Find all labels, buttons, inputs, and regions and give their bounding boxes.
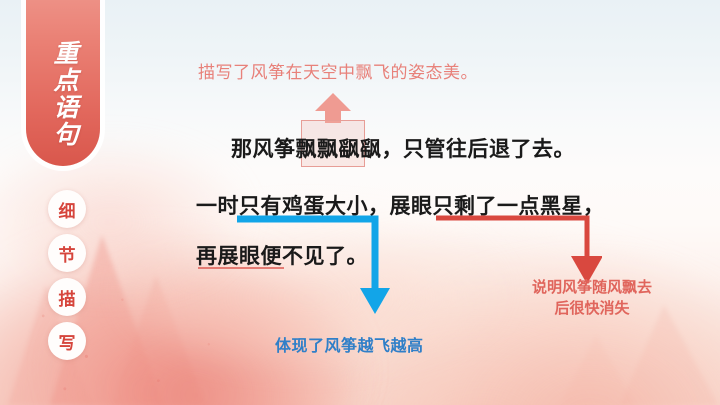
mountain-peak-decor xyxy=(560,335,636,405)
keyword-chip-1: 节 xyxy=(48,234,86,272)
mountain-peak-decor xyxy=(112,275,206,405)
section-banner: 重点语句 xyxy=(26,0,100,166)
blue-annotation-text: 体现了风筝越飞越高 xyxy=(275,332,424,356)
blue-elbow-arrow-icon xyxy=(232,214,392,324)
keyword-chip-0: 细 xyxy=(48,190,86,228)
body-sentence-1: 那风筝飘飘飖飖，只管往后退了去。 xyxy=(231,133,575,163)
keyword-chip-3: 写 xyxy=(48,322,86,360)
red-annotation-line-1: 说明风筝随风飘去 xyxy=(532,277,652,298)
top-annotation-text: 描写了风筝在天空中飘飞的姿态美。 xyxy=(198,58,478,83)
red-annotation-text: 说明风筝随风飘去 后很快消失 xyxy=(532,277,652,320)
slide-canvas: 重点语句 细 节 描 写 描写了风筝在天空中飘飞的姿态美。 那风筝飘飘飖飖，只管… xyxy=(0,0,720,405)
mountain-peak-decor xyxy=(620,305,718,405)
red-annotation-line-2: 后很快消失 xyxy=(532,298,652,319)
keyword-chip-2: 描 xyxy=(48,278,86,316)
section-banner-title: 重点语句 xyxy=(47,40,79,148)
up-arrow-icon xyxy=(311,93,355,123)
